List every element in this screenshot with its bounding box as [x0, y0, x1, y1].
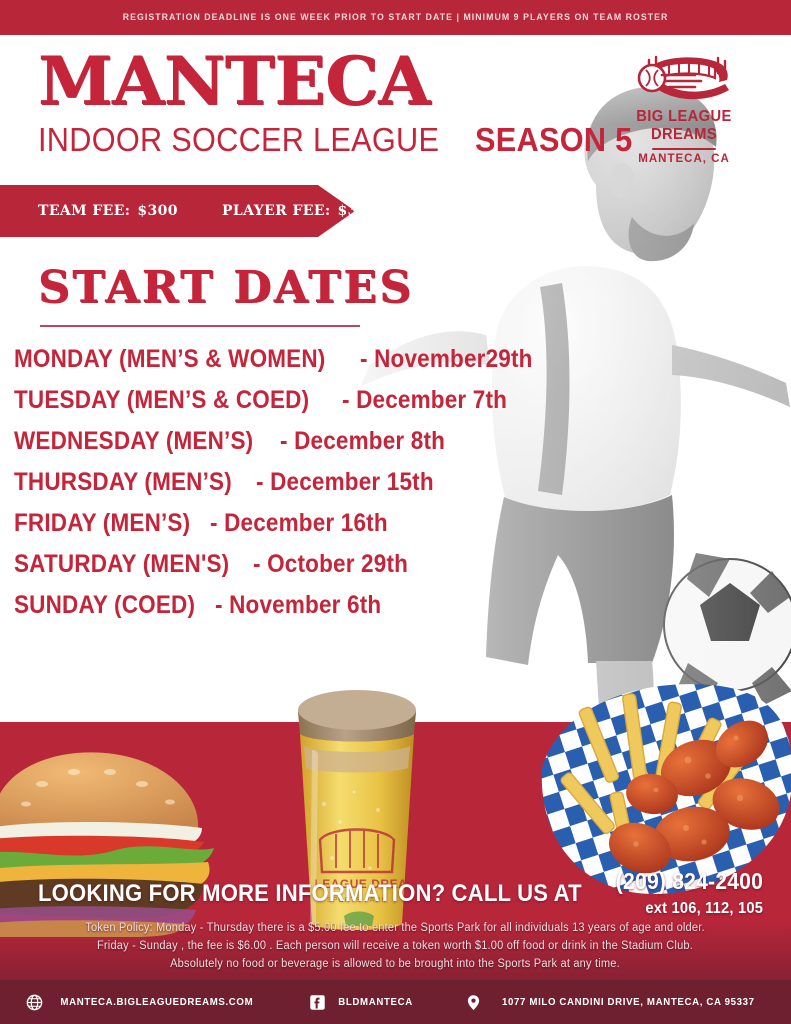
player-fee: PLAYER FEE:$30	[222, 203, 368, 219]
footer-address: 1077 MILO CANDINI DRIVE, MANTECA, CA 953…	[465, 994, 766, 1011]
flyer-page: REGISTRATION DEADLINE IS ONE WEEK PRIOR …	[0, 0, 791, 1024]
start-dates-list: MONDAY (MEN’S & WOMEN) - November29th TU…	[14, 345, 534, 632]
page-title: MANTECA	[38, 50, 657, 113]
footer-address-text: 1077 MILO CANDINI DRIVE, MANTECA, CA 953…	[502, 996, 755, 1008]
list-item: SUNDAY (COED) - November 6th	[14, 591, 534, 620]
footer-facebook-text: BLDMANTECA	[339, 996, 414, 1008]
date-day-label: FRIDAY (MEN’S)	[14, 509, 190, 538]
logo-brand-name: BIG LEAGUE DREAMS	[613, 108, 756, 144]
team-fee-value: $300	[137, 203, 178, 219]
stadium-baseball-icon	[629, 48, 739, 106]
footer-website-text: MANTECA.BIGLEAGUEDREAMS.COM	[60, 996, 253, 1008]
team-fee-label: TEAM FEE:	[38, 203, 130, 219]
date-when-label: - December 15th	[256, 468, 434, 497]
date-when-label: - December 7th	[342, 386, 507, 415]
start-dates-divider	[40, 325, 360, 327]
list-item: TUESDAY (MEN’S & COED) - December 7th	[14, 386, 534, 415]
more-information-callout: LOOKING FOR MORE INFORMATION? CALL US AT	[38, 880, 582, 908]
list-item: THURSDAY (MEN’S) - December 15th	[14, 468, 534, 497]
date-when-label: - December 16th	[210, 509, 388, 538]
date-day-label: MONDAY (MEN’S & WOMEN)	[14, 345, 325, 374]
date-day-label: SATURDAY (MEN'S)	[14, 550, 229, 579]
date-day-label: TUESDAY (MEN’S & COED)	[14, 386, 309, 415]
fee-banner: TEAM FEE:$300 PLAYER FEE:$30	[0, 185, 355, 237]
date-day-label: WEDNESDAY (MEN’S)	[14, 427, 253, 456]
logo-city-name: MANTECA, CA	[609, 153, 759, 165]
footer-website[interactable]: MANTECA.BIGLEAGUEDREAMS.COM	[26, 994, 262, 1011]
list-item: MONDAY (MEN’S & WOMEN) - November29th	[14, 345, 534, 374]
date-day-label: SUNDAY (COED)	[14, 591, 195, 620]
footer-bar: MANTECA.BIGLEAGUEDREAMS.COM BLDMANTECA 1…	[0, 980, 791, 1024]
token-policy-line-1: Token Policy: Monday - Thursday there is…	[59, 920, 731, 938]
facebook-icon	[309, 994, 326, 1011]
logo-divider	[652, 148, 716, 150]
subtitle-league: INDOOR SOCCER LEAGUE	[38, 121, 439, 159]
contact-phone-block: (209) 824-2400 ext 106, 112, 105	[603, 868, 763, 918]
date-when-label: - December 8th	[280, 427, 445, 456]
title-block: MANTECA INDOOR SOCCER LEAGUESEASON 5	[38, 50, 645, 159]
location-pin-icon	[465, 994, 482, 1011]
list-item: SATURDAY (MEN'S) - October 29th	[14, 550, 534, 579]
token-policy-line-2: Friday - Sunday , the fee is $6.00 . Eac…	[59, 938, 731, 956]
big-league-dreams-logo: BIG LEAGUE DREAMS MANTECA, CA	[609, 48, 759, 166]
phone-extensions: ext 106, 112, 105	[616, 900, 763, 918]
list-item: WEDNESDAY (MEN’S) - December 8th	[14, 427, 534, 456]
globe-icon	[26, 994, 43, 1011]
phone-number[interactable]: (209) 824-2400	[616, 868, 763, 895]
footer-facebook[interactable]: BLDMANTECA	[309, 994, 416, 1011]
player-fee-label: PLAYER FEE:	[222, 203, 331, 219]
team-fee: TEAM FEE:$300	[38, 203, 178, 219]
date-day-label: THURSDAY (MEN’S)	[14, 468, 232, 497]
registration-notice-text: REGISTRATION DEADLINE IS ONE WEEK PRIOR …	[123, 12, 669, 23]
token-policy: Token Policy: Monday - Thursday there is…	[45, 920, 745, 973]
page-subtitle: INDOOR SOCCER LEAGUESEASON 5	[38, 121, 645, 159]
registration-notice-bar: REGISTRATION DEADLINE IS ONE WEEK PRIOR …	[0, 0, 791, 35]
date-when-label: - October 29th	[253, 550, 408, 579]
date-when-label: - November29th	[360, 345, 533, 374]
start-dates-heading: START DATES	[38, 262, 414, 313]
date-when-label: - November 6th	[215, 591, 381, 620]
token-policy-line-3: Absolutely no food or beverage is allowe…	[59, 956, 731, 974]
list-item: FRIDAY (MEN’S) - December 16th	[14, 509, 534, 538]
